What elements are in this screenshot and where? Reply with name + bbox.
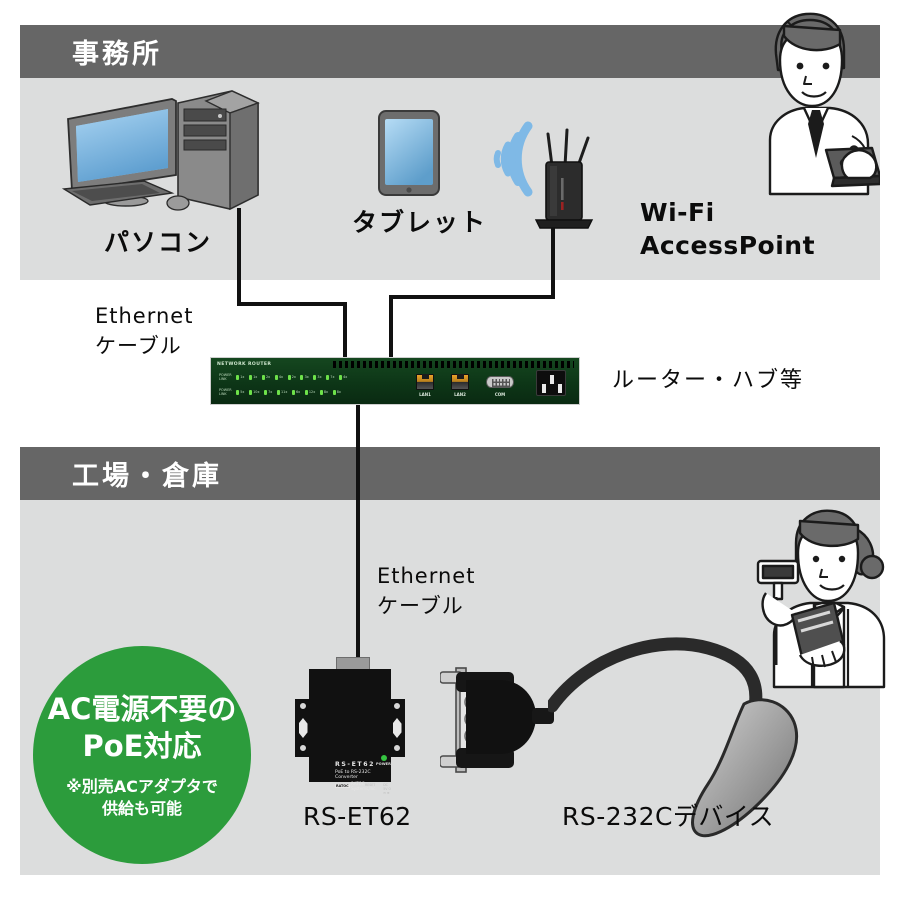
warehouse-worker-with-scanner-icon xyxy=(748,505,888,690)
label-tablet: タブレット xyxy=(352,208,487,239)
cable-pc-drop xyxy=(343,302,347,360)
mount-screw xyxy=(393,702,401,710)
zone-factory-header: 工場・倉庫 xyxy=(20,447,880,500)
led-label: POWERLINK xyxy=(219,388,232,396)
led-dot xyxy=(236,375,239,380)
ratoc-logo: RATOC xyxy=(335,784,350,788)
router-silkscreen-title: NETWORK ROUTER xyxy=(217,362,271,367)
mount-slot xyxy=(393,718,402,738)
label-ethernet-cable-bottom: Ethernet ケーブル xyxy=(377,562,475,622)
converter-description: PoE to RS-232C Converter xyxy=(335,770,391,780)
poe-badge: AC電源不要の PoE対応 ※別売ACアダプタで 供給も可能 xyxy=(33,646,251,864)
lan2-port xyxy=(451,374,469,390)
cable-pc-horizontal xyxy=(237,302,347,306)
led-label: 10x xyxy=(253,390,259,394)
com-port xyxy=(486,376,514,388)
led-dot xyxy=(313,375,316,380)
led-label: 4x xyxy=(279,375,283,379)
network-diagram: 事務所 パソコン xyxy=(0,0,900,900)
converter-reset-label: RESET xyxy=(365,783,375,795)
mount-screw xyxy=(299,702,307,710)
com-port-pins xyxy=(492,379,510,387)
lan1-port-label: LAN1 xyxy=(414,392,436,397)
label-ethernet-cable-top: Ethernet ケーブル xyxy=(95,302,193,362)
led-label: 7x xyxy=(330,375,334,379)
led-dot xyxy=(262,375,265,380)
label-wifi-access-point: Wi-Fi AccessPoint xyxy=(640,197,815,262)
led-label: 2x xyxy=(266,375,270,379)
converter-mount-wing-left xyxy=(295,699,311,757)
router-led-row-2: POWERLINK 5x 10x 7x 11x 6x 12x 8x 8x xyxy=(219,388,341,396)
led-label: 3x xyxy=(317,375,321,379)
led-dot xyxy=(292,390,295,395)
mount-screw xyxy=(299,744,307,752)
lan1-port xyxy=(416,374,434,390)
led-label: 5x xyxy=(240,390,244,394)
wifi-access-point-icon xyxy=(530,128,600,236)
cable-pc-vertical xyxy=(237,208,241,304)
led-dot xyxy=(264,390,267,395)
led-dot xyxy=(326,375,329,380)
led-dot xyxy=(300,375,303,380)
led-dot xyxy=(236,390,239,395)
led-label: 6x xyxy=(296,390,300,394)
led-dot xyxy=(249,375,252,380)
led-label: POWERLINK xyxy=(219,373,232,381)
ac-power-inlet-icon xyxy=(536,370,566,396)
label-router-hub: ルーター・ハブ等 xyxy=(612,368,804,395)
cable-ap-vertical xyxy=(551,228,555,297)
led-label: 4x xyxy=(343,375,347,379)
led-dot xyxy=(320,390,323,395)
led-dot xyxy=(275,375,278,380)
led-label: 1x xyxy=(253,375,257,379)
label-rs232c-device: RS-232Cデバイス xyxy=(562,802,774,833)
tablet-icon xyxy=(378,110,440,196)
office-worker-with-laptop-icon xyxy=(748,8,880,200)
led-label: 8x xyxy=(324,390,328,394)
label-converter: RS-ET62 xyxy=(303,802,412,833)
cable-router-to-converter xyxy=(356,405,360,660)
cable-ap-horizontal xyxy=(389,295,555,299)
desktop-pc-icon xyxy=(60,85,270,220)
wifi-signal-icon xyxy=(466,118,534,200)
zone-office-title: 事務所 xyxy=(20,32,162,71)
led-label: 2x xyxy=(292,375,296,379)
converter-mount-wing-right xyxy=(389,699,405,757)
mount-slot xyxy=(299,718,308,738)
led-dot xyxy=(305,390,308,395)
led-label: 12x xyxy=(309,390,315,394)
label-pc: パソコン xyxy=(104,228,212,259)
poe-converter-icon: POWER RS-ET62 PoE to RS-232C Converter R… xyxy=(295,657,405,782)
network-router-icon: NETWORK ROUTER POWERLINK 1x 1x 2x 4x 2x … xyxy=(210,357,580,405)
led-label: 11x xyxy=(281,390,287,394)
led-dot xyxy=(277,390,280,395)
led-dot xyxy=(288,375,291,380)
converter-model: RS-ET62 xyxy=(335,761,391,768)
led-dot xyxy=(249,390,252,395)
lan2-port-label: LAN2 xyxy=(449,392,471,397)
router-vent-grille xyxy=(411,361,574,368)
converter-footer: RESET DC 5V O ⊖ ⊕ xyxy=(365,783,391,795)
led-dot xyxy=(339,375,342,380)
com-port-label: COM xyxy=(486,392,514,397)
cable-ap-drop xyxy=(389,295,393,361)
zone-factory-title: 工場・倉庫 xyxy=(20,454,222,493)
poe-badge-headline: AC電源不要の PoE対応 xyxy=(48,691,237,765)
mount-screw xyxy=(393,744,401,752)
router-led-row-1: POWERLINK 1x 1x 2x 4x 2x 3x 3x 7x 4x xyxy=(219,373,347,381)
converter-dc-label: DC 5V O ⊖ ⊕ xyxy=(383,783,391,795)
led-label: 3x xyxy=(305,375,309,379)
led-label: 7x xyxy=(268,390,272,394)
led-label: 1x xyxy=(240,375,244,379)
converter-body: POWER RS-ET62 PoE to RS-232C Converter R… xyxy=(309,669,391,782)
led-dot xyxy=(333,390,336,395)
led-label: 8x xyxy=(337,390,341,394)
poe-badge-note: ※別売ACアダプタで 供給も可能 xyxy=(66,776,218,819)
